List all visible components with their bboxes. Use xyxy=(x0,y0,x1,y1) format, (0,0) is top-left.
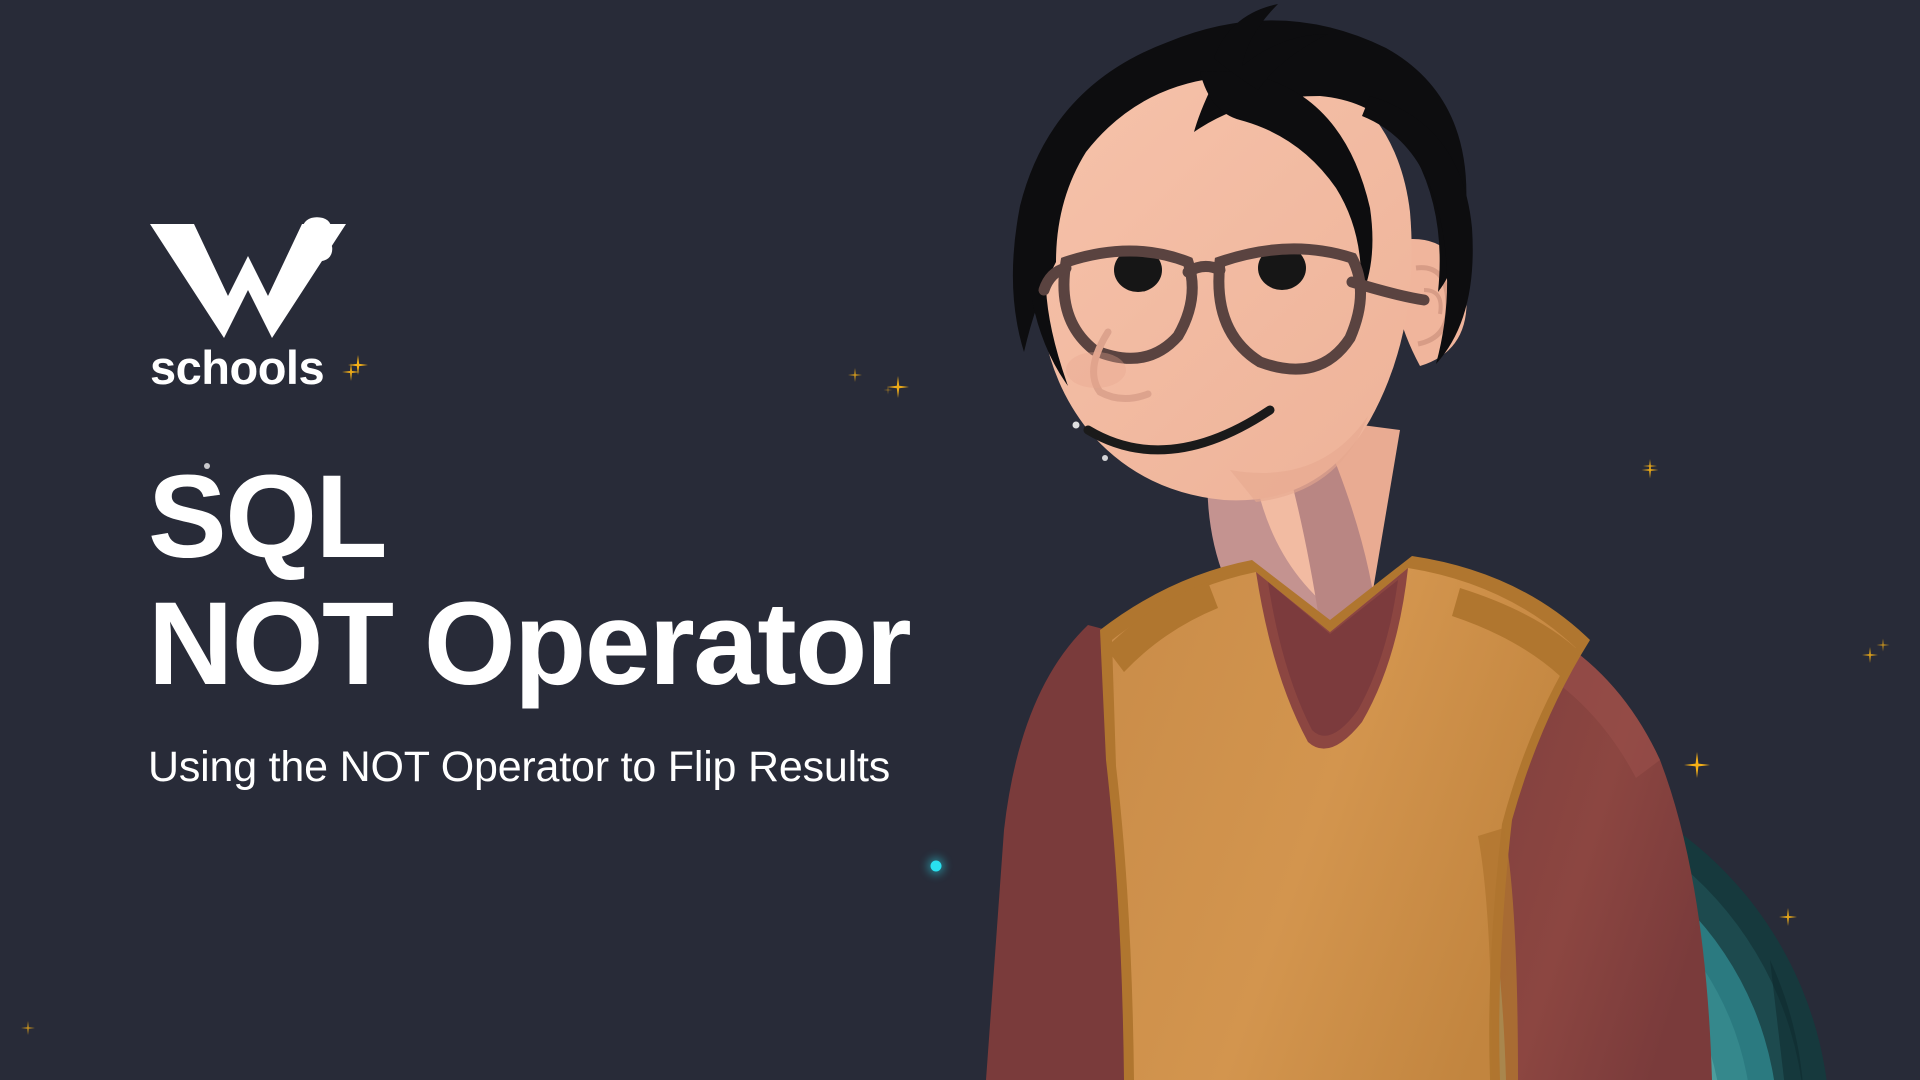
banner-root: 3 schools SQL NOT Operator Using the NOT… xyxy=(0,0,1920,1080)
head-graphic xyxy=(1013,4,1473,502)
page-title: SQL NOT Operator xyxy=(148,454,1048,709)
title-line-2: NOT Operator xyxy=(148,581,1048,708)
w3-logo-superscript: 3 xyxy=(300,210,334,272)
title-line-1: SQL xyxy=(148,454,1048,581)
content-column: 3 schools SQL NOT Operator Using the NOT… xyxy=(148,222,1048,792)
sparkle-icon xyxy=(21,1021,35,1035)
logo-superscript-text: 3 xyxy=(300,206,334,275)
illustration-student-with-planet xyxy=(900,0,1920,1080)
logo-sparkle-icon xyxy=(348,355,368,380)
w3schools-logo[interactable]: 3 schools xyxy=(148,222,348,402)
logo-wordmark: schools xyxy=(150,344,324,391)
page-subtitle: Using the NOT Operator to Flip Results xyxy=(148,743,1048,792)
